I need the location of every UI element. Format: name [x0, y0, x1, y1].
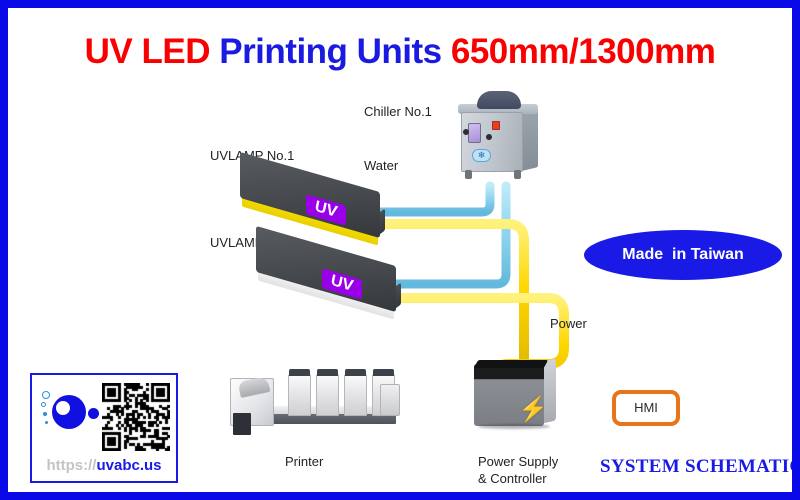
- logo-bubble-4: [45, 421, 48, 424]
- printer-label: Printer: [285, 454, 323, 470]
- logo-small-circle: [88, 408, 99, 419]
- logo-bubble-2: [41, 402, 46, 407]
- chiller-knob-right[interactable]: [486, 134, 492, 140]
- power-supply-controller-unit: ⚡: [474, 360, 558, 432]
- company-logo-icon: [40, 389, 100, 435]
- chiller-label: Chiller No.1: [364, 104, 432, 120]
- printer-unit-3: [344, 374, 367, 416]
- power-supply-label-line2: & Controller: [478, 471, 547, 487]
- printer-delivery-section: [380, 384, 400, 416]
- printer-feeder-arm: [238, 376, 271, 398]
- chiller-side-panel: [522, 105, 538, 171]
- chiller-power-button[interactable]: [492, 121, 500, 130]
- hmi-panel[interactable]: HMI: [612, 390, 680, 426]
- chiller-caster-right: [514, 170, 521, 179]
- chiller-unit: ❄: [452, 91, 544, 186]
- printer-unit-2: [316, 374, 339, 416]
- title-part-dimensions: 650mm/1300mm: [451, 32, 715, 71]
- water-pipe-lamp2: [380, 186, 506, 284]
- snowflake-icon: ❄: [472, 149, 491, 162]
- power-label: Power: [550, 316, 587, 332]
- water-label: Water: [364, 158, 398, 174]
- qr-code-icon[interactable]: [102, 383, 170, 451]
- logo-inner-circle: [56, 401, 70, 415]
- made-in-taiwan-badge: Made in Taiwan: [584, 230, 782, 280]
- printer-feeder: [230, 378, 274, 426]
- printing-press: [230, 366, 400, 434]
- chiller-fan-cover-icon: [477, 91, 521, 109]
- logo-bubble-1: [42, 391, 50, 399]
- printer-unit-1: [288, 374, 311, 416]
- qr-info-card[interactable]: https://uvabc.us: [30, 373, 178, 483]
- schematic-poster: UV LED Printing Units 650mm/1300mm: [0, 0, 800, 500]
- psu-top-panel: [474, 360, 548, 368]
- url-protocol: https://: [46, 457, 96, 474]
- logo-bubble-3: [43, 412, 47, 416]
- schematics-caption: SYSTEM SCHEMATICS: [600, 456, 800, 478]
- title-part-uvled: UV LED: [85, 32, 220, 71]
- chiller-knob-left[interactable]: [463, 129, 469, 135]
- chiller-caster-left: [465, 170, 472, 179]
- page-title: UV LED Printing Units 650mm/1300mm: [8, 32, 792, 72]
- website-url[interactable]: https://uvabc.us: [32, 457, 176, 475]
- chiller-display-screen[interactable]: [468, 123, 481, 143]
- lightning-bolt-icon: ⚡: [518, 398, 548, 422]
- psu-shadow: [478, 424, 550, 429]
- title-part-printing-units: Printing Units: [219, 32, 451, 71]
- power-supply-label-line1: Power Supply: [478, 454, 558, 470]
- url-host: uvabc.us: [96, 457, 161, 474]
- printer-feeder-tray: [233, 413, 251, 435]
